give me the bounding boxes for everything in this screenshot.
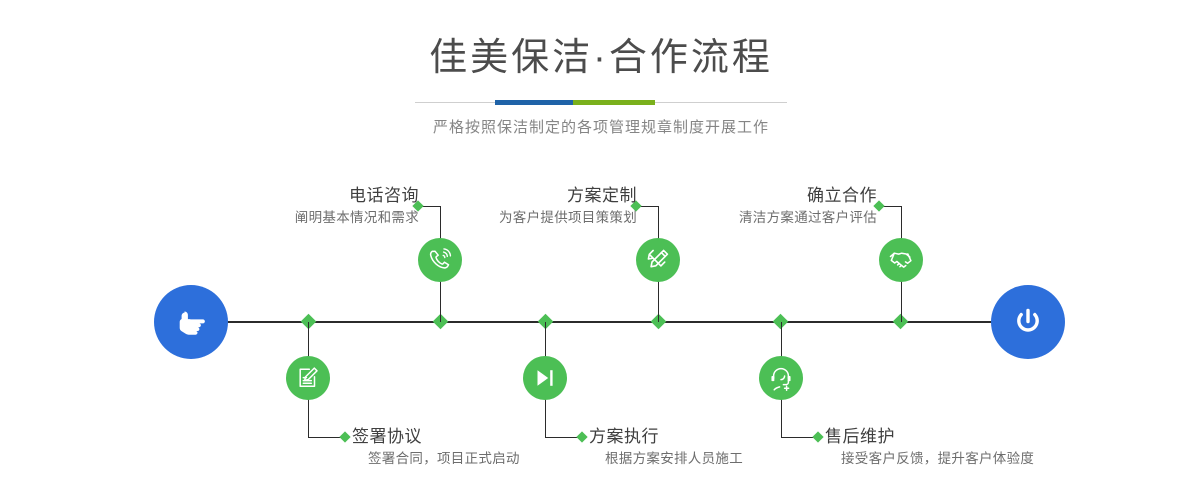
pen-pencil-design-icon bbox=[645, 247, 671, 273]
step-label-below-3: 售后维护 接受客户反馈，提升客户体验度 bbox=[825, 426, 1034, 469]
play-forward-icon bbox=[532, 365, 558, 391]
leader-tip-below-2 bbox=[576, 431, 587, 442]
step-title: 方案执行 bbox=[589, 426, 743, 449]
step-label-above-3: 确立合作 清洁方案通过客户评估 bbox=[739, 185, 877, 228]
leader-tip-below-1 bbox=[339, 431, 350, 442]
step-title: 售后维护 bbox=[825, 426, 1034, 449]
leader-tip-below-3 bbox=[812, 431, 823, 442]
step-icon-phone-consult bbox=[418, 238, 462, 282]
step-desc: 接受客户反馈，提升客户体验度 bbox=[825, 449, 1034, 469]
step-icon-establish-cooperation bbox=[879, 238, 923, 282]
step-desc: 根据方案安排人员施工 bbox=[589, 449, 743, 469]
step-label-below-2: 方案执行 根据方案安排人员施工 bbox=[589, 426, 743, 469]
step-title: 签署协议 bbox=[352, 426, 520, 449]
step-title: 电话咨询 bbox=[295, 185, 419, 208]
process-timeline: 电话咨询 阐明基本情况和需求 方案定制 为客户提供项目策策划 bbox=[0, 0, 1202, 502]
step-desc: 为客户提供项目策策划 bbox=[499, 208, 637, 228]
step-icon-plan-customize bbox=[636, 238, 680, 282]
headset-support-plus-icon bbox=[768, 365, 794, 391]
timeline-start-endpoint bbox=[154, 285, 228, 359]
step-title: 方案定制 bbox=[499, 185, 637, 208]
step-icon-plan-execution bbox=[523, 356, 567, 400]
step-icon-sign-agreement bbox=[286, 356, 330, 400]
step-desc: 阐明基本情况和需求 bbox=[295, 208, 419, 228]
step-label-above-2: 方案定制 为客户提供项目策策划 bbox=[499, 185, 637, 228]
step-desc: 清洁方案通过客户评估 bbox=[739, 208, 877, 228]
timeline-end-endpoint bbox=[991, 285, 1065, 359]
step-icon-after-sales bbox=[759, 356, 803, 400]
power-button-icon bbox=[1008, 302, 1048, 342]
handshake-icon bbox=[888, 247, 914, 273]
step-desc: 签署合同，项目正式启动 bbox=[352, 449, 520, 469]
step-title: 确立合作 bbox=[739, 185, 877, 208]
pointing-hand-icon bbox=[171, 302, 211, 342]
step-label-above-1: 电话咨询 阐明基本情况和需求 bbox=[295, 185, 419, 228]
document-edit-icon bbox=[295, 365, 321, 391]
phone-ringing-icon bbox=[427, 247, 453, 273]
cooperation-process-infographic: 佳美保洁·合作流程 严格按照保洁制定的各项管理规章制度开展工作 bbox=[0, 0, 1202, 502]
step-label-below-1: 签署协议 签署合同，项目正式启动 bbox=[352, 426, 520, 469]
